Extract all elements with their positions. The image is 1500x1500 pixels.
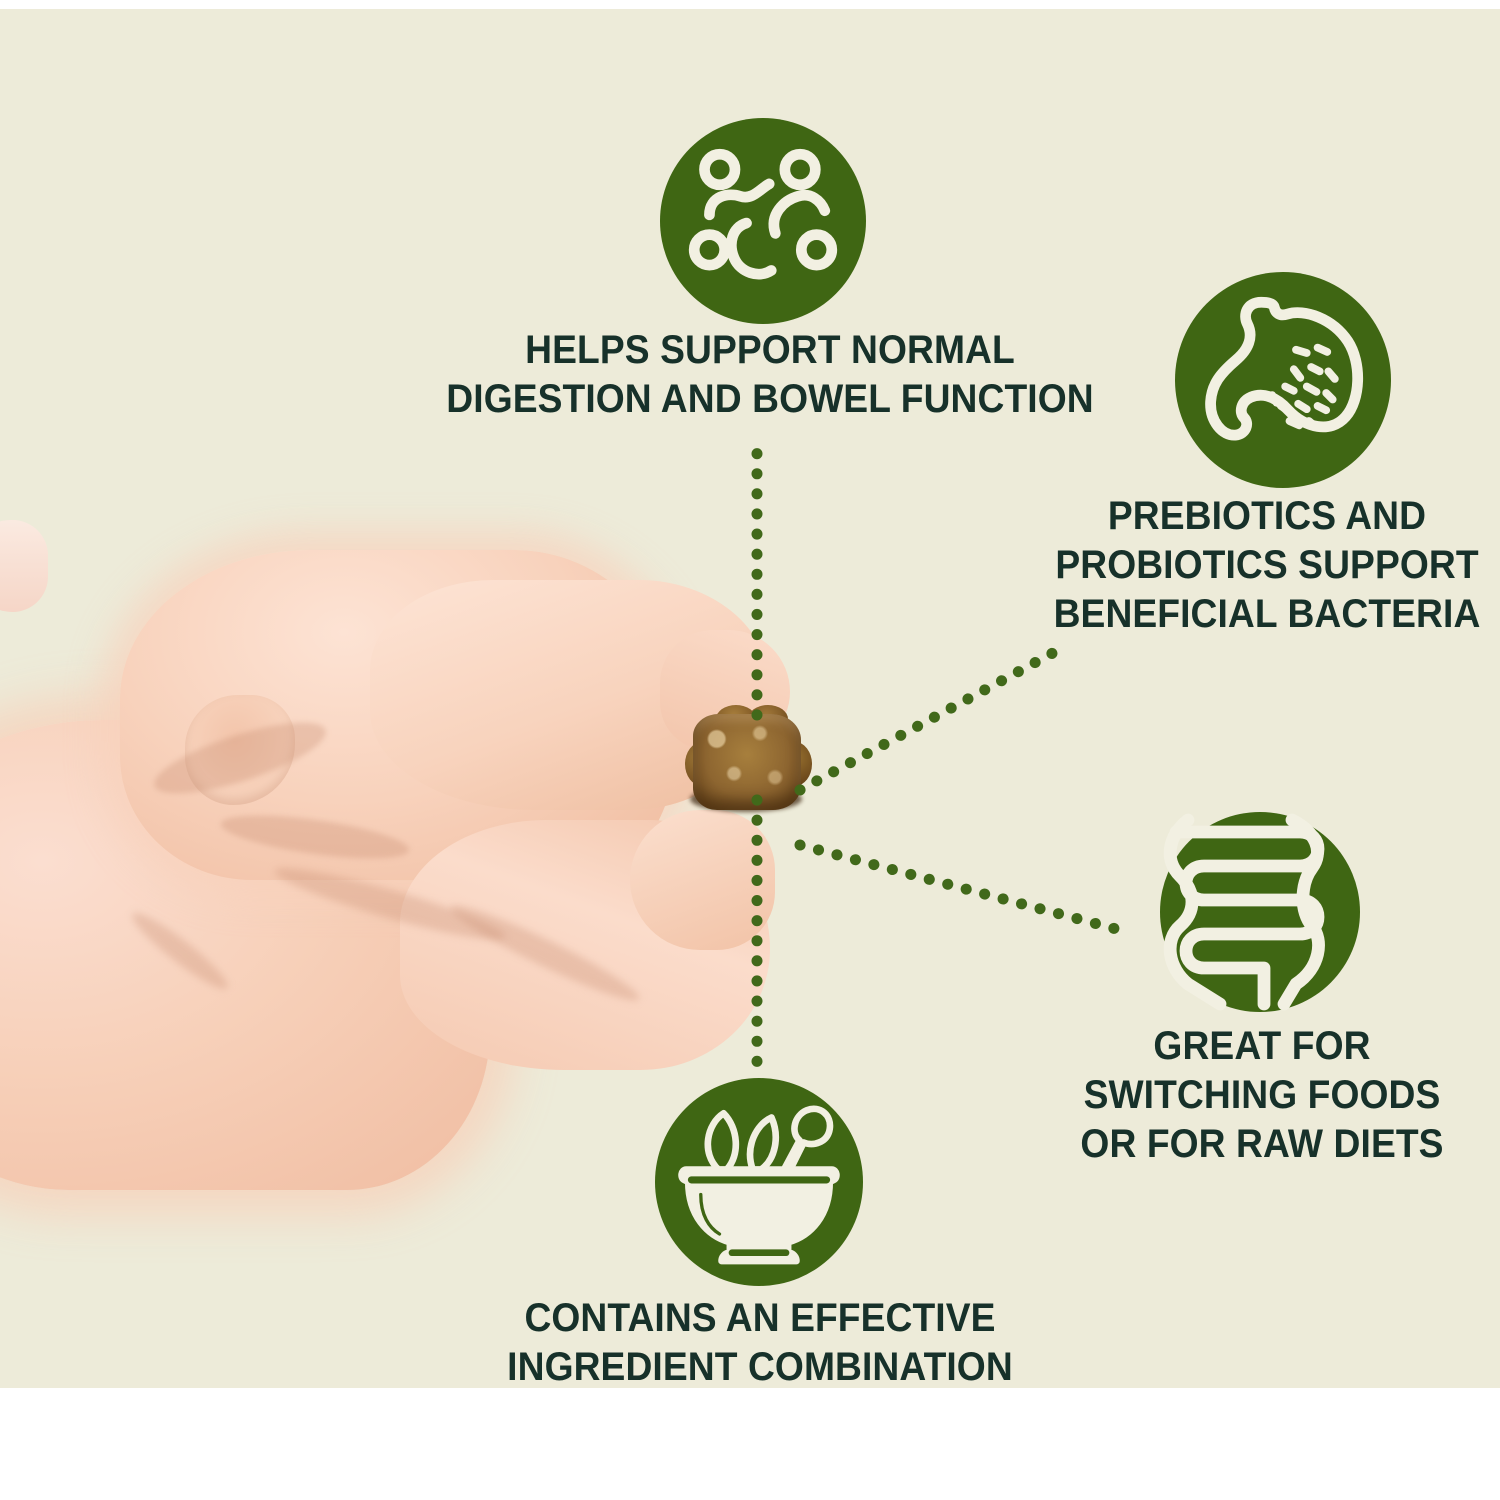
caption-line: PREBIOTICS AND [1048, 492, 1485, 541]
caption-line: SWITCHING FOODS [1039, 1071, 1485, 1120]
caption-line: OR FOR RAW DIETS [1039, 1120, 1485, 1169]
bacteria-icon [660, 118, 866, 324]
connector-line-upper-right [800, 648, 1062, 790]
infographic-canvas: HELPS SUPPORT NORMAL DIGESTION AND BOWEL… [0, 0, 1500, 1500]
caption-line: INGREDIENT COMBINATION [453, 1343, 1067, 1392]
benefit-caption-switching: GREAT FOR SWITCHING FOODS OR FOR RAW DIE… [1039, 1022, 1485, 1168]
caption-line: CONTAINS AN EFFECTIVE [453, 1294, 1067, 1343]
caption-line: GREAT FOR [1039, 1022, 1485, 1071]
connector-line-lower-right [800, 845, 1120, 930]
mortar-pestle-icon-badge [655, 1078, 863, 1286]
benefit-caption-ingredients: CONTAINS AN EFFECTIVE INGREDIENT COMBINA… [453, 1294, 1067, 1392]
stomach-icon [1175, 272, 1391, 488]
caption-line: HELPS SUPPORT NORMAL [361, 326, 1179, 375]
caption-line: PROBIOTICS SUPPORT [1048, 541, 1485, 590]
benefit-caption-digestion: HELPS SUPPORT NORMAL DIGESTION AND BOWEL… [361, 326, 1179, 424]
stomach-icon-badge [1175, 272, 1391, 488]
caption-line: BENEFICIAL BACTERIA [1048, 590, 1485, 639]
caption-line: DIGESTION AND BOWEL FUNCTION [361, 375, 1179, 424]
intestine-icon [1160, 812, 1360, 1012]
mortar-pestle-icon [655, 1078, 863, 1286]
intestine-icon-badge [1160, 812, 1360, 1012]
bacteria-icon-badge [660, 118, 866, 324]
benefit-caption-prebiotics: PREBIOTICS AND PROBIOTICS SUPPORT BENEFI… [1048, 492, 1485, 638]
